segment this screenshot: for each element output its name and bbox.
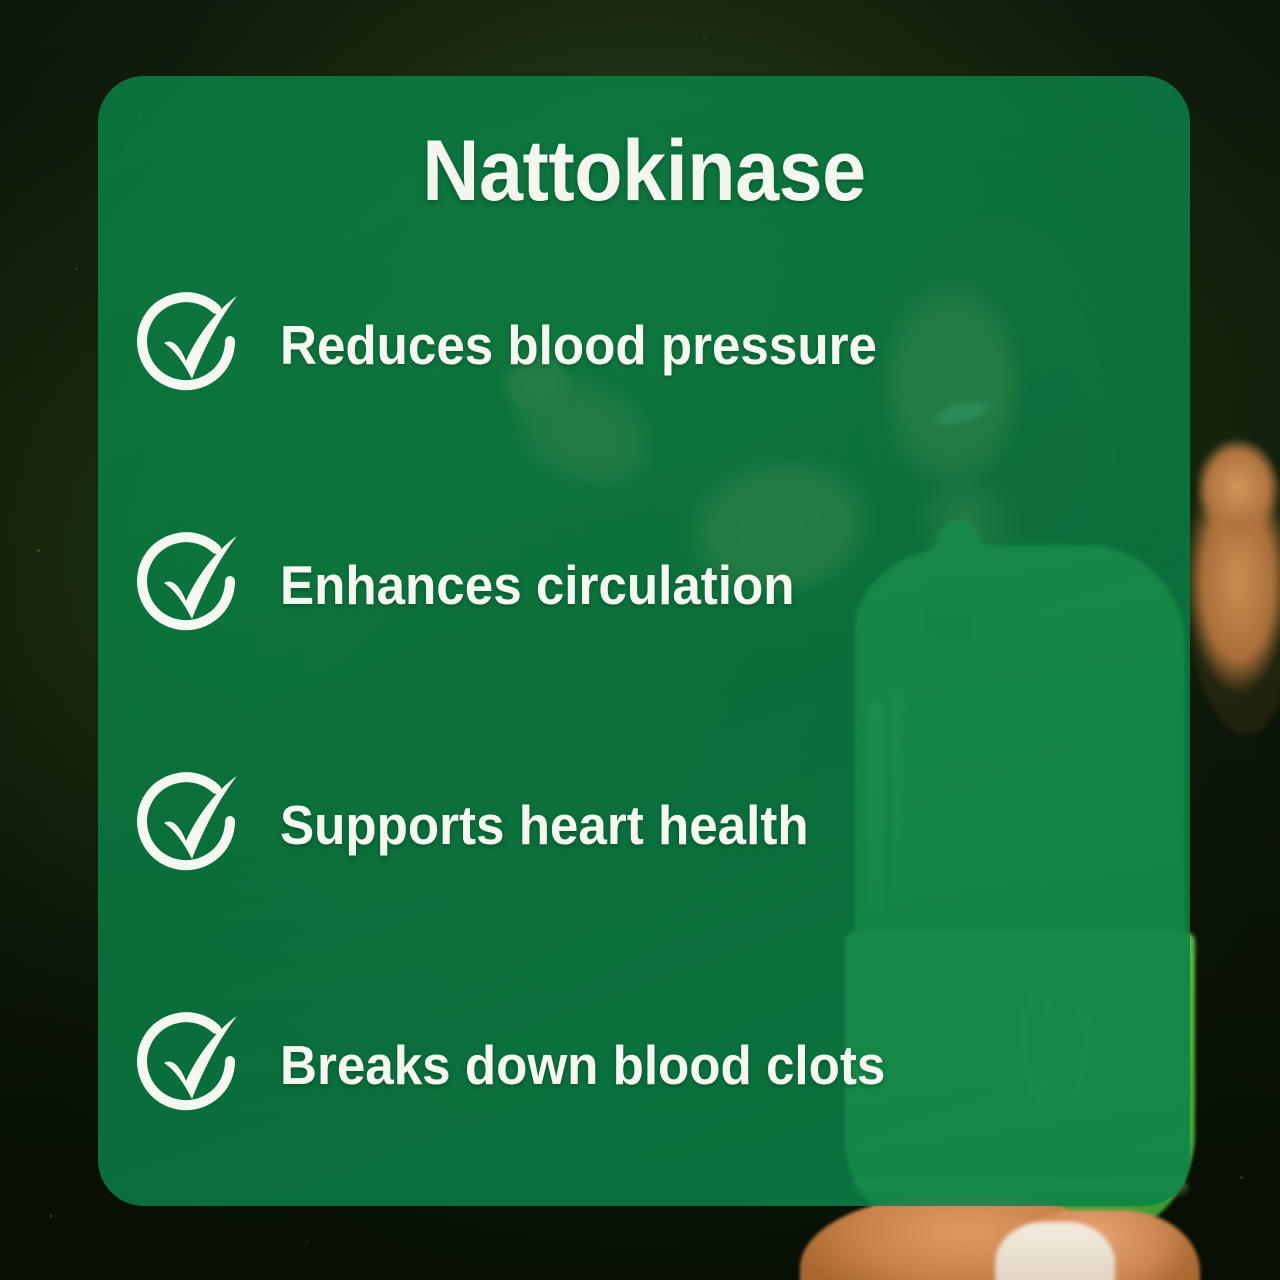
benefit-item: Enhances circulation xyxy=(134,530,833,640)
benefit-label: Supports heart health xyxy=(280,798,809,853)
benefit-item: Supports heart health xyxy=(134,770,848,880)
benefit-item: Breaks down blood clots xyxy=(134,1010,931,1120)
poster-canvas: Nattokinase Reduces blood pressure xyxy=(0,0,1280,1280)
green-overlay-card: Nattokinase Reduces blood pressure xyxy=(98,76,1190,1206)
check-circle-icon xyxy=(134,1011,250,1119)
subject-undergarment xyxy=(995,1222,1115,1280)
benefit-item: Reduces blood pressure xyxy=(134,290,922,400)
check-circle-icon xyxy=(134,771,250,879)
benefit-label: Reduces blood pressure xyxy=(280,318,877,373)
check-circle-icon xyxy=(134,291,250,399)
benefit-label: Breaks down blood clots xyxy=(280,1038,885,1093)
benefits-list: Reduces blood pressure Enhances circulat… xyxy=(98,246,1190,1206)
check-circle-icon xyxy=(134,531,250,639)
page-title: Nattokinase xyxy=(142,126,1147,216)
card-content: Nattokinase Reduces blood pressure xyxy=(98,76,1190,1206)
benefit-label: Enhances circulation xyxy=(280,558,795,613)
